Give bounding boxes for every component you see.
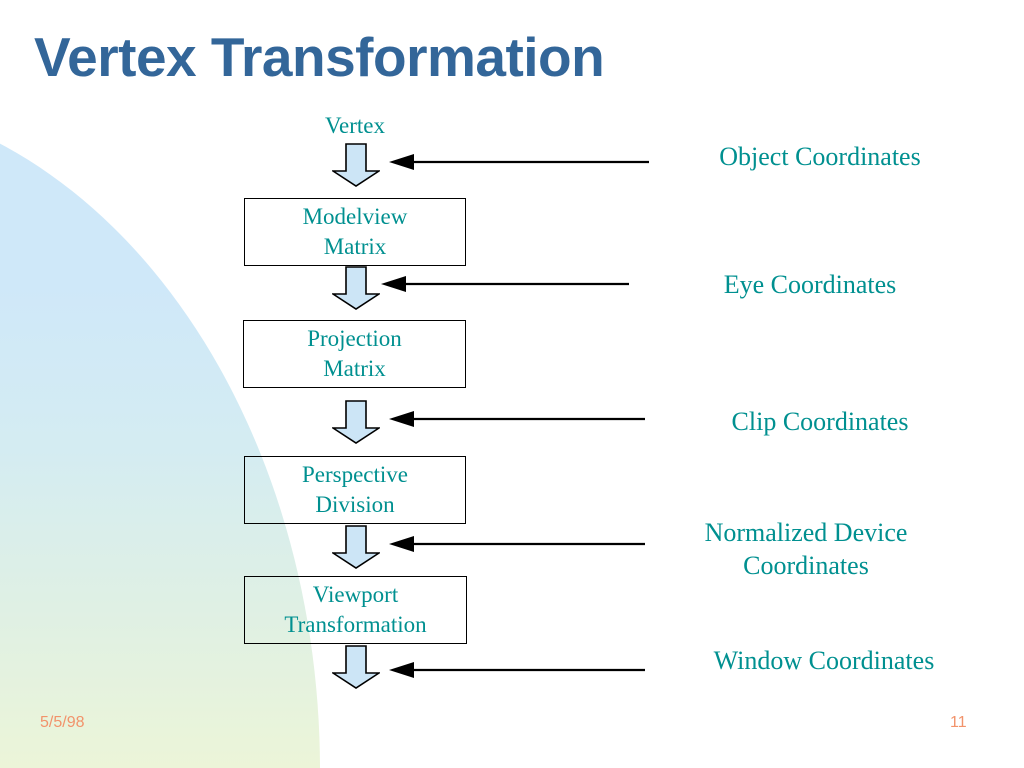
stage-line-2: Transformation [284, 610, 426, 640]
coordinate-space-line-1: Object Coordinates [648, 140, 992, 173]
stage-line-2: Matrix [324, 232, 387, 262]
left-arrow-icon-clip-coordinates [388, 409, 646, 429]
slide-canvas: Vertex Transformation Vertex Modelview M… [0, 0, 1024, 768]
background-gradient-blob [0, 95, 320, 768]
footer-date: 5/5/98 [40, 714, 84, 732]
left-arrow-icon-window-coordinates [388, 660, 646, 680]
coordinate-space-label-object: Object Coordinates [648, 140, 992, 173]
coordinate-space-line-1: Window Coordinates [652, 644, 996, 677]
coordinate-space-line-1: Eye Coordinates [638, 268, 982, 301]
down-arrow-icon-2 [332, 266, 380, 311]
left-arrow-icon-object-coordinates [388, 152, 650, 172]
coordinate-space-label-clip: Clip Coordinates [648, 405, 992, 438]
coordinate-space-line-1: Normalized Device [634, 516, 978, 549]
left-arrow-icon-eye-coordinates [380, 274, 630, 294]
coordinate-space-line-1: Clip Coordinates [648, 405, 992, 438]
stage-line-1: Viewport [313, 580, 399, 610]
coordinate-space-label-normalized-device: Normalized Device Coordinates [634, 516, 978, 582]
pipeline-stage-box-modelview: Modelview Matrix [244, 198, 466, 266]
stage-line-1: Projection [307, 324, 402, 354]
stage-line-1: Perspective [302, 460, 408, 490]
pipeline-stage-box-perspective-division: Perspective Division [244, 456, 466, 524]
footer-page-number: 11 [950, 714, 990, 732]
stage-line-1: Modelview [303, 202, 408, 232]
down-arrow-icon-4 [332, 525, 380, 570]
coordinate-space-line-2: Coordinates [634, 549, 978, 582]
down-arrow-icon-5 [332, 645, 380, 690]
down-arrow-icon-1 [332, 143, 380, 188]
pipeline-stage-box-viewport-transformation: Viewport Transformation [244, 576, 467, 644]
pipeline-source-label: Vertex [255, 112, 455, 140]
coordinate-space-label-window: Window Coordinates [652, 644, 996, 677]
page-title: Vertex Transformation [34, 26, 674, 88]
left-arrow-icon-normalized-device-coordinates [388, 534, 646, 554]
down-arrow-icon-3 [332, 400, 380, 445]
stage-line-2: Division [315, 490, 394, 520]
pipeline-stage-box-projection: Projection Matrix [243, 320, 466, 388]
coordinate-space-label-eye: Eye Coordinates [638, 268, 982, 301]
stage-line-2: Matrix [323, 354, 386, 384]
